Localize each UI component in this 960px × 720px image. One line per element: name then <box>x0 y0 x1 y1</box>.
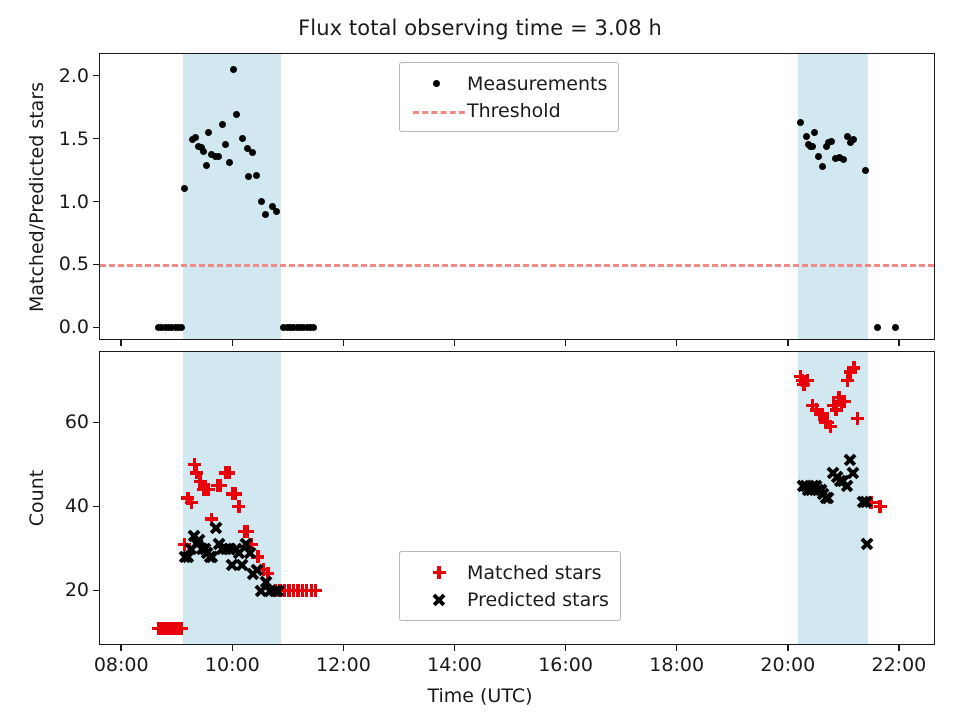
top-panel-y-tick-label: 0.0 <box>3 316 89 338</box>
top-panel-y-tick <box>93 327 99 329</box>
bottom-panel-x-tick <box>120 645 122 651</box>
observing-window-band <box>183 54 280 339</box>
x-tick-label: 14:00 <box>427 654 482 676</box>
top-panel-y-tick <box>93 75 99 77</box>
measurement-point <box>192 134 199 141</box>
measurement-point <box>809 143 816 150</box>
top-panel-legend: Measurements Threshold <box>399 62 619 132</box>
dashed-line-marker-icon <box>411 100 467 122</box>
measurement-point <box>253 172 260 179</box>
legend-label-predicted-stars: Predicted stars <box>467 589 609 611</box>
x-tick-label: 20:00 <box>760 654 815 676</box>
top-panel-y-tick-label: 1.0 <box>3 191 89 213</box>
cross-marker-icon <box>411 589 467 611</box>
bottom-panel-legend: Matched stars Predicted stars <box>399 551 621 621</box>
top-panel-x-tick <box>787 340 789 346</box>
figure-title: Flux total observing time = 3.08 h <box>0 16 960 40</box>
x-tick-label: 08:00 <box>94 654 149 676</box>
bottom-panel-y-tick <box>93 422 99 424</box>
top-panel-y-tick <box>93 264 99 266</box>
measurement-point <box>862 167 869 174</box>
measurement-point <box>226 159 233 166</box>
threshold-line <box>100 264 934 267</box>
observing-window-band <box>798 54 869 339</box>
top-panel-y-tick-label: 2.0 <box>3 65 89 87</box>
measurement-point <box>797 119 804 126</box>
bottom-panel-y-tick <box>93 506 99 508</box>
top-panel-x-tick <box>454 340 456 346</box>
top-panel-x-tick <box>343 340 345 346</box>
measurement-point <box>262 211 269 218</box>
x-axis-label: Time (UTC) <box>0 685 960 707</box>
bottom-panel-x-tick <box>232 645 234 651</box>
measurement-point <box>215 153 222 160</box>
measurement-point <box>828 138 835 145</box>
legend-entry-matched-stars: Matched stars <box>411 559 609 586</box>
bottom-panel-y-tick-label: 20 <box>3 579 89 601</box>
bottom-panel-x-tick <box>676 645 678 651</box>
legend-entry-measurements: Measurements <box>411 70 607 97</box>
dot-marker-icon <box>411 73 467 95</box>
measurement-point <box>200 148 207 155</box>
bottom-panel-x-tick <box>565 645 567 651</box>
measurement-point <box>892 324 899 331</box>
bottom-panel-x-tick <box>898 645 900 651</box>
legend-entry-predicted-stars: Predicted stars <box>411 586 609 613</box>
bottom-panel-x-tick <box>454 645 456 651</box>
x-tick-label: 18:00 <box>649 654 704 676</box>
top-panel-y-tick-label: 0.5 <box>3 253 89 275</box>
legend-label-measurements: Measurements <box>467 73 607 95</box>
bottom-panel-y-tick-label: 40 <box>3 495 89 517</box>
x-tick-label: 10:00 <box>205 654 260 676</box>
measurement-point <box>803 133 810 140</box>
measurement-point <box>230 66 237 73</box>
bottom-panel-y-tick <box>93 590 99 592</box>
top-panel-x-tick <box>120 340 122 346</box>
x-tick-label: 22:00 <box>872 654 927 676</box>
legend-label-threshold: Threshold <box>467 100 561 122</box>
figure-canvas: Flux total observing time = 3.08 h Match… <box>0 0 960 720</box>
measurement-point <box>811 129 818 136</box>
top-panel-y-tick <box>93 138 99 140</box>
top-panel-y-tick <box>93 201 99 203</box>
bottom-panel-y-tick-label: 60 <box>3 411 89 433</box>
plus-marker-icon <box>411 562 467 584</box>
top-panel-x-tick <box>676 340 678 346</box>
top-panel-x-tick <box>898 340 900 346</box>
legend-label-matched-stars: Matched stars <box>467 562 601 584</box>
measurement-point <box>203 162 210 169</box>
x-tick-label: 12:00 <box>316 654 371 676</box>
legend-entry-threshold: Threshold <box>411 97 607 124</box>
top-panel-y-tick-label: 1.5 <box>3 128 89 150</box>
top-panel-x-tick <box>565 340 567 346</box>
measurement-point <box>239 135 246 142</box>
bottom-panel-x-tick <box>787 645 789 651</box>
measurement-point <box>258 198 265 205</box>
bottom-panel-x-tick <box>343 645 345 651</box>
x-tick-label: 16:00 <box>538 654 593 676</box>
top-panel-x-tick <box>232 340 234 346</box>
